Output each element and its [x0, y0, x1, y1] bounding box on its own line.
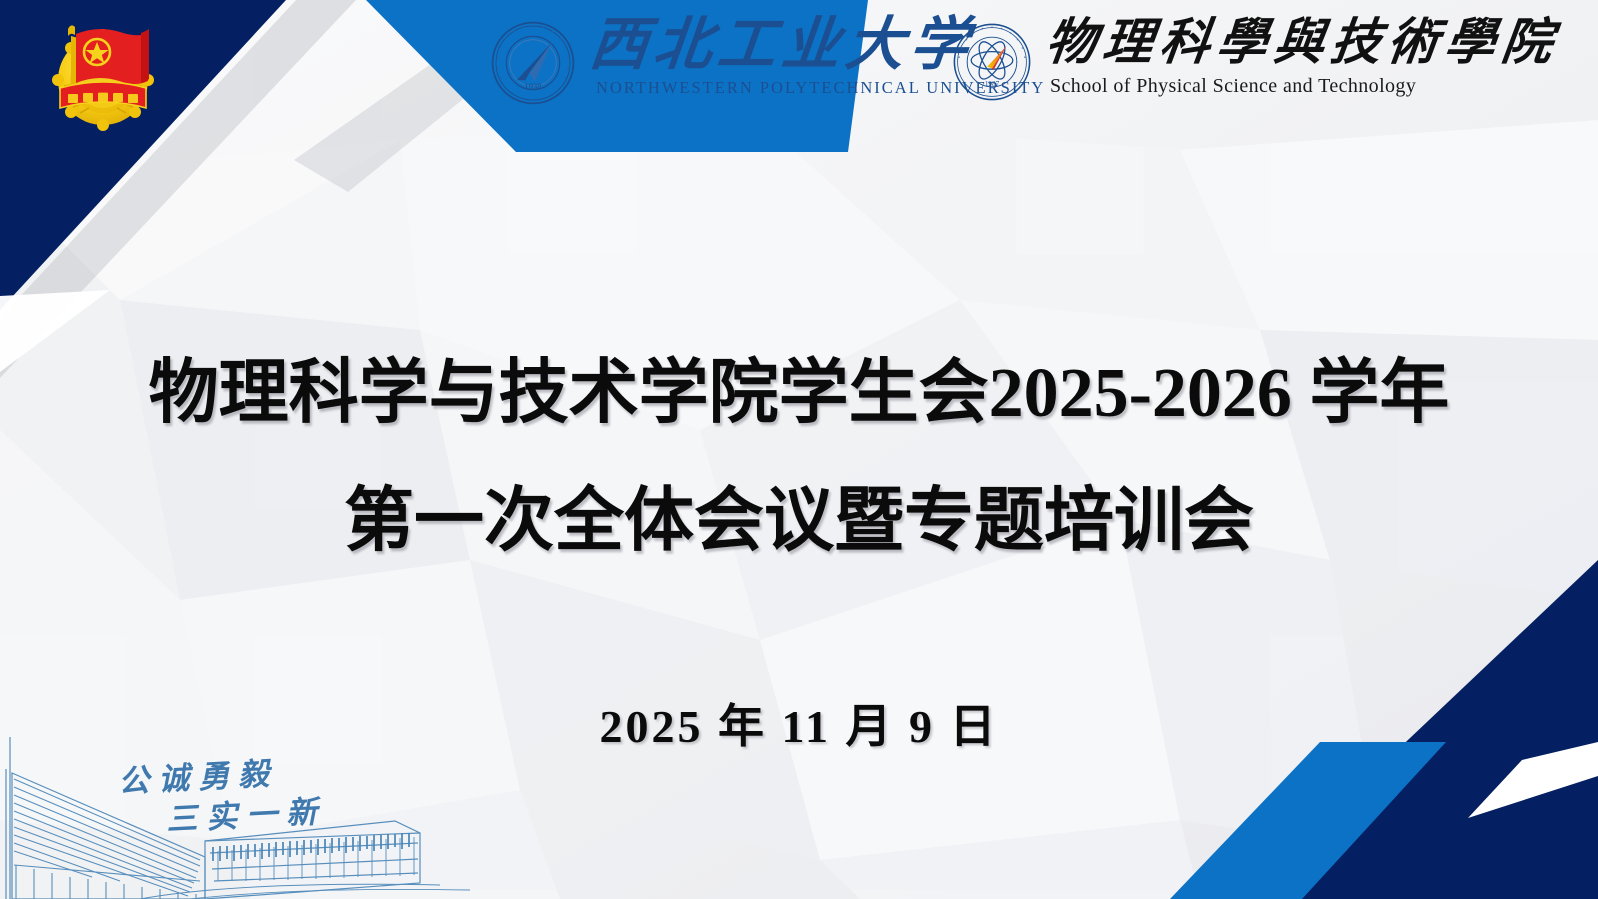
- slide-header: 1938 西北工业大学 NORTHWESTERN POLYTECHNICAL U…: [0, 0, 1598, 140]
- title-line-2: 第一次全体会议暨专题培训会: [0, 458, 1598, 586]
- spst-name-cn: 物理科學與技術學院: [1043, 16, 1562, 69]
- slide-date: 2025 年 11 月 9 日: [0, 690, 1598, 756]
- motto-line-2: 三实一新: [165, 786, 327, 839]
- spst-logo-block: 1987 物理科學與技術學院 School of Physical Scienc…: [952, 16, 1559, 102]
- spst-seal-icon: 1987: [952, 22, 1032, 102]
- title-line-1: 物理科学与技术学院学生会2025-2026 学年: [0, 330, 1598, 458]
- spst-seal-year: 1987: [985, 80, 1000, 88]
- npu-seal-year: 1938: [524, 81, 541, 91]
- communist-youth-league-emblem-icon: [42, 14, 164, 136]
- npu-seal-icon: 1938: [490, 20, 576, 106]
- spst-name-en: School of Physical Science and Technolog…: [1050, 75, 1559, 98]
- slide-title-block: 物理科学与技术学院学生会2025-2026 学年 第一次全体会议暨专题培训会: [0, 330, 1598, 586]
- presentation-slide: 1938 西北工业大学 NORTHWESTERN POLYTECHNICAL U…: [0, 0, 1598, 899]
